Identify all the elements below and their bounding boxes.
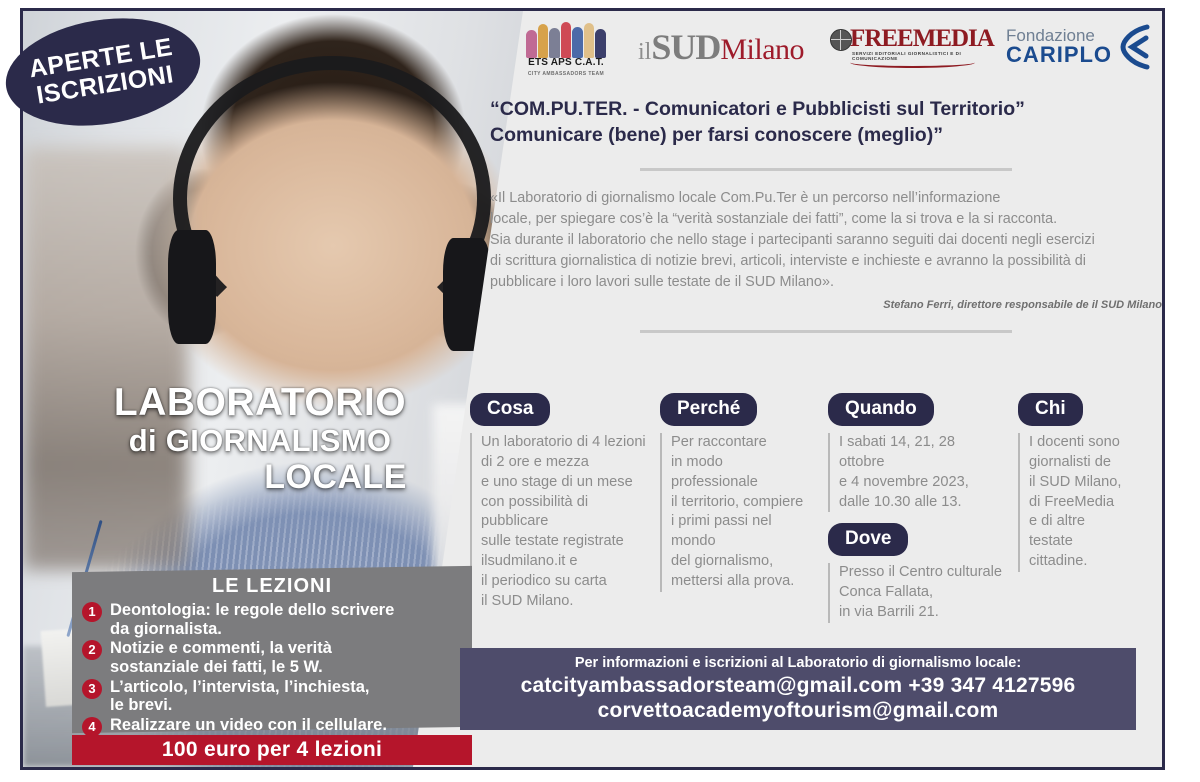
contact-intro: Per informazioni e iscrizioni al Laborat… bbox=[575, 655, 1021, 671]
lesson-number: 4 bbox=[82, 717, 102, 737]
globe-icon bbox=[830, 29, 852, 51]
cariplo-mark-icon bbox=[1120, 24, 1150, 70]
logo-freemedia: FREEMEDIA SERVIZI EDITORIALI GIORNALISTI… bbox=[830, 23, 980, 71]
freemedia-wordmark: FREEMEDIA bbox=[850, 25, 994, 53]
info-body-chi: I docenti sono giornalisti de il SUD Mil… bbox=[1018, 433, 1148, 572]
sponsor-logos: ETS APS C.A.T. CITY AMBASSADORS TEAM il … bbox=[520, 14, 1160, 80]
info-column-chi: Chi I docenti sono giornalisti de il SUD… bbox=[1018, 393, 1148, 572]
logo-ets-aps-cat: ETS APS C.A.T. CITY AMBASSADORS TEAM bbox=[520, 16, 612, 78]
lesson-number: 3 bbox=[82, 679, 102, 699]
contact-email-secondary[interactable]: corvettoacademyoftourism@gmail.com bbox=[598, 699, 999, 723]
title-line-3: LOCALE bbox=[95, 458, 425, 496]
quote-line-1: «Il Laboratorio di giornalismo locale Co… bbox=[490, 188, 1162, 209]
lessons-box: LE LEZIONI 1 Deontologia: le regole dell… bbox=[72, 566, 472, 733]
freemedia-swoosh bbox=[850, 57, 975, 68]
poster-main-title: LABORATORIO di GIORNALISMO LOCALE bbox=[95, 383, 425, 496]
price-banner: 100 euro per 4 lezioni bbox=[72, 735, 472, 765]
quote-line-4: di scrittura giornalistica di notizie br… bbox=[490, 251, 1162, 272]
info-label-chi: Chi bbox=[1018, 393, 1083, 426]
lesson-text: L’articolo, l’intervista, l’inchiesta, l… bbox=[110, 678, 370, 715]
headline-line-1: “COM.PU.TER. - Comunicatori e Pubblicist… bbox=[490, 96, 1162, 122]
sud-logo-sud: SUD bbox=[651, 26, 720, 68]
info-columns: Cosa Un laboratorio di 4 lezioni di 2 or… bbox=[470, 393, 1170, 603]
headline: “COM.PU.TER. - Comunicatori e Pubblicist… bbox=[490, 96, 1162, 149]
info-label-dove: Dove bbox=[828, 523, 908, 556]
cariplo-line-2: CARIPLO bbox=[1006, 44, 1112, 66]
headphone-cup-right-icon bbox=[443, 238, 491, 351]
info-label-perche: Perché bbox=[660, 393, 757, 426]
divider-top bbox=[640, 168, 1012, 171]
quote-paragraph: «Il Laboratorio di giornalismo locale Co… bbox=[490, 188, 1162, 294]
contact-footer: Per informazioni e iscrizioni al Laborat… bbox=[460, 648, 1136, 730]
info-label-cosa: Cosa bbox=[470, 393, 550, 426]
lesson-item: 1 Deontologia: le regole dello scrivere … bbox=[82, 601, 462, 638]
sud-logo-milano: Milano bbox=[720, 33, 804, 67]
lesson-item: 2 Notizie e commenti, la verità sostanzi… bbox=[82, 639, 462, 676]
title-line-1: LABORATORIO bbox=[95, 383, 425, 424]
cariplo-wordmark: Fondazione CARIPLO bbox=[1006, 27, 1112, 67]
lesson-text: Notizie e commenti, la verità sostanzial… bbox=[110, 639, 332, 676]
divider-bottom bbox=[640, 330, 1012, 333]
lesson-text: Realizzare un video con il cellulare. bbox=[110, 716, 387, 735]
logo-fondazione-cariplo: Fondazione CARIPLO bbox=[1006, 24, 1150, 70]
contact-email-phone[interactable]: catcityambassadorsteam@gmail.com +39 347… bbox=[521, 674, 1076, 698]
info-body-dove: Presso il Centro culturale Conca Fallata… bbox=[828, 563, 1003, 623]
info-subcolumn-dove: Dove Presso il Centro culturale Conca Fa… bbox=[828, 523, 1003, 623]
info-body-cosa: Un laboratorio di 4 lezioni di 2 ore e m… bbox=[470, 433, 650, 612]
headline-line-2: Comunicare (bene) per farsi conoscere (m… bbox=[490, 122, 1162, 148]
lesson-item: 4 Realizzare un video con il cellulare. bbox=[82, 716, 462, 737]
cat-logo-name: ETS APS C.A.T. bbox=[520, 57, 612, 68]
info-column-perche: Perché Per raccontare in modo profession… bbox=[660, 393, 810, 592]
logo-il-sud-milano: il SUD Milano bbox=[638, 26, 804, 68]
headphone-cup-left-icon bbox=[168, 230, 216, 343]
info-column-cosa: Cosa Un laboratorio di 4 lezioni di 2 or… bbox=[470, 393, 650, 612]
info-column-quando: Quando I sabati 14, 21, 28 ottobre e 4 n… bbox=[828, 393, 1003, 623]
quote-line-2: locale, per spiegare cos’è la “verità so… bbox=[490, 209, 1162, 230]
content-panel: “COM.PU.TER. - Comunicatori e Pubblicist… bbox=[490, 96, 1162, 350]
lesson-number: 2 bbox=[82, 640, 102, 660]
cat-logo-subtitle: CITY AMBASSADORS TEAM bbox=[520, 71, 612, 77]
lessons-heading: LE LEZIONI bbox=[82, 575, 462, 598]
badge-text: APERTE LE ISCRIZIONI bbox=[27, 34, 178, 109]
info-label-quando: Quando bbox=[828, 393, 934, 426]
title-line-2: di GIORNALISMO bbox=[95, 424, 425, 459]
quote-attribution: Stefano Ferri, direttore responsabile de… bbox=[490, 299, 1162, 311]
price-text: 100 euro per 4 lezioni bbox=[162, 738, 382, 762]
poster-root: APERTE LE ISCRIZIONI LABORATORIO di GIOR… bbox=[0, 0, 1200, 782]
lesson-text: Deontologia: le regole dello scrivere da… bbox=[110, 601, 394, 638]
lesson-number: 1 bbox=[82, 602, 102, 622]
info-body-quando: I sabati 14, 21, 28 ottobre e 4 novembre… bbox=[828, 433, 1003, 512]
quote-line-3: Sia durante il laboratorio che nello sta… bbox=[490, 230, 1162, 251]
people-group-icon bbox=[526, 18, 606, 58]
sud-logo-il: il bbox=[638, 39, 651, 66]
quote-line-5: pubblicare i loro lavori sulle testate d… bbox=[490, 272, 1162, 293]
lessons-inner: LE LEZIONI 1 Deontologia: le regole dell… bbox=[82, 575, 462, 737]
lesson-item: 3 L’articolo, l’intervista, l’inchiesta,… bbox=[82, 678, 462, 715]
info-body-perche: Per raccontare in modo professionale il … bbox=[660, 433, 810, 592]
